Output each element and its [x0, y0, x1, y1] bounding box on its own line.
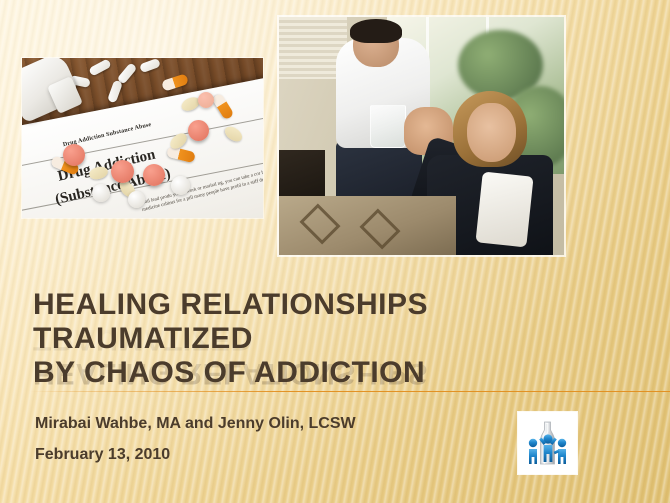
slide-title-block: Healing Relationships Traumatizedby Chao… — [33, 288, 637, 408]
drinking-glass — [370, 105, 406, 147]
patterned-couch — [279, 196, 456, 256]
image-intervention-therapy-scene — [279, 17, 564, 255]
pink-tablet — [143, 164, 165, 186]
presenters-line: Mirabai Wahbe, MA and Jenny Olin, LCSW — [35, 408, 356, 439]
title-reflection-area: Healing Relationships Traumatizedby Chao… — [33, 390, 637, 408]
title-line-1: Healing Relationships Traumatized — [33, 288, 428, 355]
pills-photo-scene: Drug Addiction Substance Abuse Drug Addi… — [22, 58, 263, 218]
therapy-photo-scene — [279, 17, 564, 255]
page-title: Healing Relationships Traumatizedby Chao… — [33, 288, 637, 390]
white-round-tablet — [128, 191, 145, 208]
slide-subtitle-block: Mirabai Wahbe, MA and Jenny Olin, LCSW F… — [35, 408, 356, 470]
presentation-slide: Drug Addiction Substance Abuse Drug Addi… — [0, 0, 670, 503]
horizontal-divider-rule — [30, 391, 670, 392]
couch-pattern-motif — [299, 203, 340, 244]
figure-right — [554, 439, 567, 464]
woman-face — [467, 103, 515, 163]
bottle-and-family-figures-logo — [518, 412, 577, 474]
logo-artwork — [518, 412, 577, 474]
man-hair — [350, 19, 401, 43]
date-line: February 13, 2010 — [35, 439, 356, 470]
woman-white-blouse — [475, 172, 533, 248]
couch-pattern-motif — [359, 208, 400, 249]
figure-child-left — [529, 439, 537, 464]
title-line-2: by Chaos of Addiction — [33, 356, 425, 389]
image-pills-drug-addiction-document: Drug Addiction Substance Abuse Drug Addi… — [22, 58, 263, 218]
pink-tablet — [198, 92, 214, 108]
